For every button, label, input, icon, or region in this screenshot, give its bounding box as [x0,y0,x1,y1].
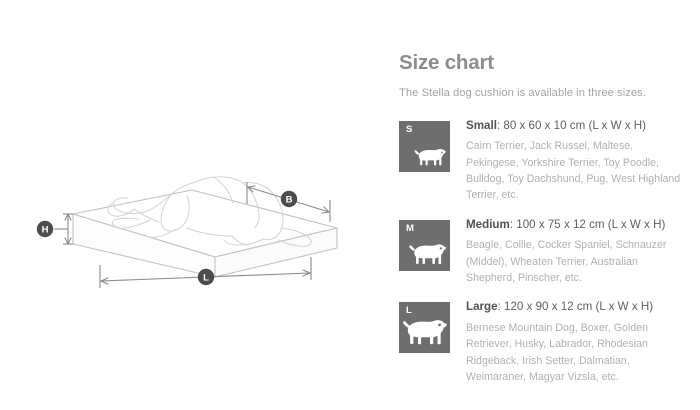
size-tile-large: L [399,302,450,353]
size-heading-large: Large: 120 x 90 x 12 cm (L x W x H) [466,300,683,314]
size-name-small: Small [466,119,497,132]
size-tile-letter-small: S [406,125,413,135]
cushion-dimension-illustration: H B L [0,0,380,410]
size-breeds-medium: Beagle, Collie, Cocker Spaniel, Schnauze… [466,237,683,286]
size-heading-small: Small: 80 x 60 x 10 cm (L x W x H) [466,119,683,133]
size-tile-medium: M [399,220,450,271]
height-dimension [54,214,73,244]
size-name-large: Large [466,300,498,313]
size-row-medium: M Medium: 100 x 75 x 12 cm (L x W x H) B… [399,218,683,287]
size-heading-medium: Medium: 100 x 75 x 12 cm (L x W x H) [466,218,683,232]
size-breeds-small: Cairn Terrier, Jack Russel, Maltese, Pek… [466,138,683,204]
small-dog-icon [414,143,447,170]
width-label: B [286,195,293,206]
size-dimensions-large: 120 x 90 x 12 cm (L x W x H) [504,300,653,313]
page-title: Size chart [399,52,683,75]
size-row-large: L Large: 120 x 90 x 12 cm (L x W x H) Be… [399,300,683,385]
size-dimensions-medium: 100 x 75 x 12 cm (L x W x H) [516,218,665,231]
size-name-medium: Medium [466,218,510,231]
size-tile-letter-medium: M [406,224,414,234]
size-row-small: S Small: 80 x 60 x 10 cm (L x W x H) Cai… [399,119,683,204]
large-dog-icon [403,315,447,351]
height-label-badge: H [37,221,53,237]
size-chart-panel: Size chart The Stella dog cushion is ava… [399,52,683,386]
size-dimensions-small: 80 x 60 x 10 cm (L x W x H) [503,119,646,132]
height-label: H [42,225,49,236]
medium-dog-icon [409,239,447,269]
panel-subtitle: The Stella dog cushion is available in t… [399,86,683,101]
length-label: L [203,273,209,284]
length-label-badge: L [198,269,214,285]
size-breeds-large: Bernese Mountain Dog, Boxer, Golden Retr… [466,320,683,386]
size-tile-small: S [399,121,450,172]
width-label-badge: B [281,191,297,207]
